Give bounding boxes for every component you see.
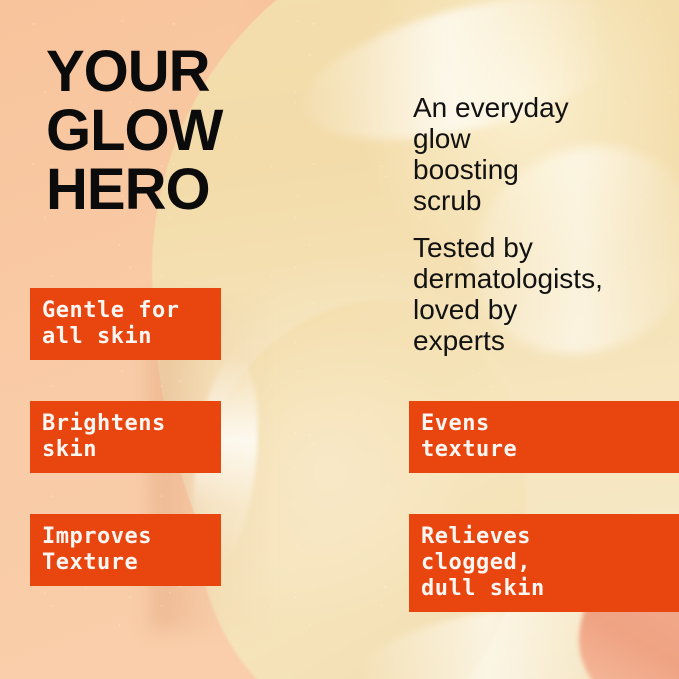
claim-badge-brightens: Brightens skin — [30, 401, 221, 473]
product-description: An everyday glow boosting scrub — [413, 92, 679, 216]
product-claims-poster: YOUR GLOW HERO An everyday glow boosting… — [0, 0, 679, 679]
claim-badge-relieves-clogged: Relieves clogged, dull skin — [409, 514, 679, 612]
claim-badge-label: Evens texture — [409, 411, 529, 463]
claim-badge-evens-texture: Evens texture — [409, 401, 679, 473]
claim-badge-label: Improves Texture — [30, 524, 164, 576]
claim-badge-gentle: Gentle for all skin — [30, 288, 221, 360]
claim-badge-label: Gentle for all skin — [30, 298, 191, 350]
claim-badge-improves-texture: Improves Texture — [30, 514, 221, 586]
claim-badge-label: Relieves clogged, dull skin — [409, 524, 557, 602]
claim-badge-label: Brightens skin — [30, 411, 178, 463]
page-title: YOUR GLOW HERO — [46, 42, 346, 219]
dermatologist-claim: Tested by dermatologists, loved by exper… — [413, 232, 679, 356]
